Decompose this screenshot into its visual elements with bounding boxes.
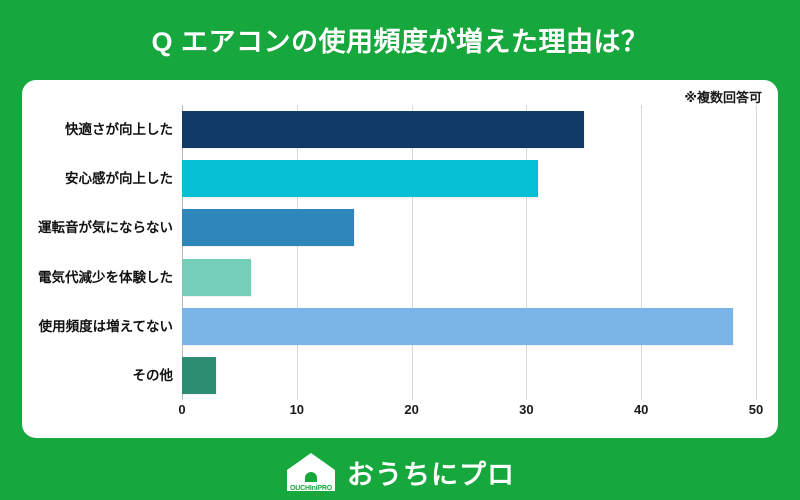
- bar-category-label: 快適さが向上した: [65, 105, 173, 154]
- bar-row: 電気代減少を体験した: [182, 253, 756, 302]
- bar-category-label: 運転音が気にならない: [38, 203, 173, 252]
- brand-logo[interactable]: OUCHIniPRO おうちにプロ: [0, 444, 800, 500]
- bar-category-label: 安心感が向上した: [65, 154, 173, 203]
- bar-row: その他: [182, 351, 756, 400]
- bar: [182, 209, 354, 246]
- gridline-50: [756, 105, 757, 400]
- house-icon: OUCHIniPRO: [285, 451, 337, 493]
- title-bar: Q エアコンの使用頻度が増えた理由は？: [0, 0, 800, 78]
- bar-row: 快適さが向上した: [182, 105, 756, 154]
- x-axis: 01020304050: [182, 400, 756, 426]
- x-tick-label: 0: [178, 402, 185, 417]
- bar: [182, 357, 216, 394]
- logo-wordmark: おうちにプロ: [347, 453, 515, 492]
- multiple-answers-note: ※複数回答可: [684, 87, 762, 106]
- bar-row: 安心感が向上した: [182, 154, 756, 203]
- bar-category-label: その他: [133, 351, 174, 400]
- x-tick-label: 20: [404, 402, 418, 417]
- poster-root: Q エアコンの使用頻度が増えた理由は？ ※複数回答可 快適さが向上した安心感が向…: [0, 0, 800, 500]
- bar-row: 使用頻度は増えてない: [182, 302, 756, 351]
- plot-area: 快適さが向上した安心感が向上した運転音が気にならない電気代減少を体験した使用頻度…: [182, 105, 756, 400]
- logo-mark-text: OUCHIniPRO: [285, 484, 337, 493]
- bar: [182, 111, 584, 148]
- x-tick-label: 30: [519, 402, 533, 417]
- bar-series: 快適さが向上した安心感が向上した運転音が気にならない電気代減少を体験した使用頻度…: [182, 105, 756, 400]
- x-tick-label: 10: [290, 402, 304, 417]
- bar: [182, 259, 251, 296]
- page-title: Q エアコンの使用頻度が増えた理由は？: [151, 20, 648, 59]
- x-tick-label: 40: [634, 402, 648, 417]
- bar-category-label: 電気代減少を体験した: [38, 253, 173, 302]
- chart-card: ※複数回答可 快適さが向上した安心感が向上した運転音が気にならない電気代減少を体…: [22, 80, 778, 438]
- bar: [182, 160, 538, 197]
- bar: [182, 308, 733, 345]
- bar-category-label: 使用頻度は増えてない: [39, 302, 173, 351]
- bar-row: 運転音が気にならない: [182, 203, 756, 252]
- x-tick-label: 50: [749, 402, 763, 417]
